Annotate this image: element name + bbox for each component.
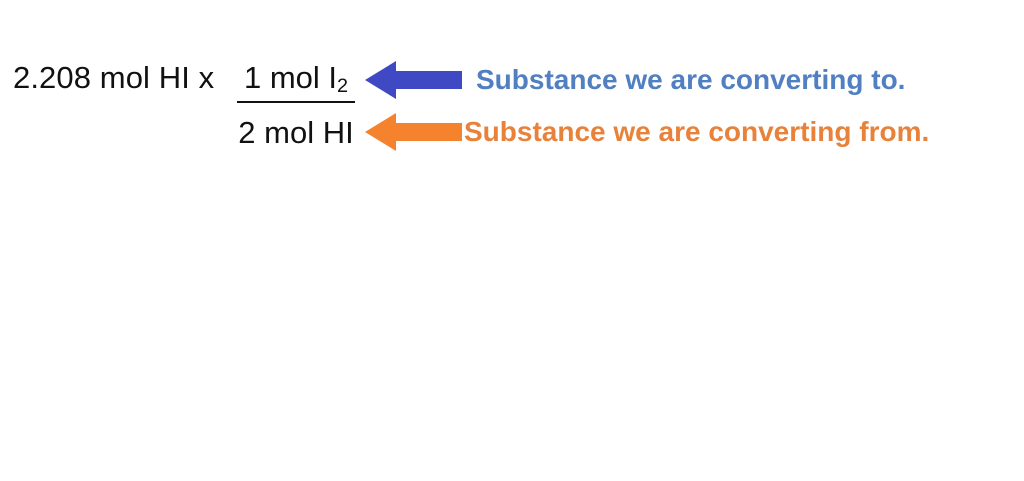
conversion-factor-fraction: 1 mol I2 2 mol HI xyxy=(237,60,355,151)
callout-converting-from: Substance we are converting from. xyxy=(365,113,929,151)
equation-leading-term: 2.208 mol HI x xyxy=(13,60,214,96)
conversion-factor-denominator: 2 mol HI xyxy=(237,103,355,151)
slide-canvas: 2.208 mol HI x 1 mol I2 2 mol HI Substan… xyxy=(0,0,1024,481)
callout-converting-from-label: Substance we are converting from. xyxy=(464,118,929,146)
conversion-factor-numerator: 1 mol I2 xyxy=(237,60,355,103)
numerator-subscript: 2 xyxy=(337,75,348,97)
callout-converting-to: Substance we are converting to. xyxy=(365,61,905,99)
left-arrow-icon xyxy=(365,61,462,99)
numerator-text: 1 mol I xyxy=(244,60,337,95)
callout-converting-to-label: Substance we are converting to. xyxy=(476,66,905,94)
left-arrow-icon xyxy=(365,113,462,151)
